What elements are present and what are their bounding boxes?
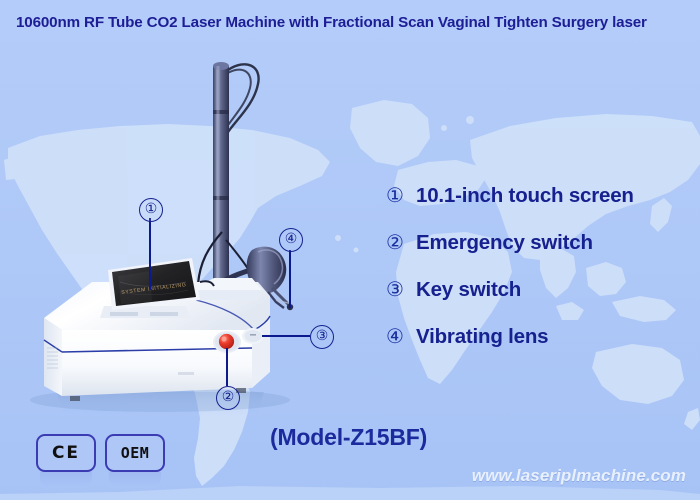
oem-badge: OEM [105,434,165,472]
product-poster: SYSTEM INITIALIZING 10600nm RF Tube CO2 … [0,0,700,500]
legend-number-2: ② [386,233,416,253]
callout-leader-1 [149,218,151,290]
legend-item-key-switch[interactable]: ③ Key switch [386,270,686,310]
callout-marker-vibrating-lens[interactable]: ④ [279,228,303,252]
feature-legend: ① 10.1-inch touch screen ② Emergency swi… [386,176,686,364]
website-url[interactable]: www.laseriplmachine.com [472,466,686,486]
callout-marker-emergency-switch[interactable]: ② [216,386,240,410]
legend-number-3: ③ [386,280,416,300]
callout-leader-2 [226,348,228,386]
legend-number-4: ④ [386,327,416,347]
callout-marker-key-switch[interactable]: ③ [310,325,334,349]
legend-item-touch-screen[interactable]: ① 10.1-inch touch screen [386,176,686,216]
model-number: (Model-Z15BF) [270,424,427,451]
legend-number-1: ① [386,186,416,206]
callout-leader-4 [289,250,291,308]
certification-badges: CE OEM [36,434,165,472]
ce-badge: CE [36,434,96,472]
legend-label-2: Emergency switch [416,231,593,255]
legend-item-emergency-switch[interactable]: ② Emergency switch [386,223,686,263]
legend-label-4: Vibrating lens [416,325,548,349]
legend-label-3: Key switch [416,278,521,302]
page-title: 10600nm RF Tube CO2 Laser Machine with F… [16,14,688,31]
legend-item-vibrating-lens[interactable]: ④ Vibrating lens [386,317,686,357]
callout-leader-3 [262,335,310,337]
callout-marker-touch-screen[interactable]: ① [139,198,163,222]
legend-label-1: 10.1-inch touch screen [416,184,634,208]
